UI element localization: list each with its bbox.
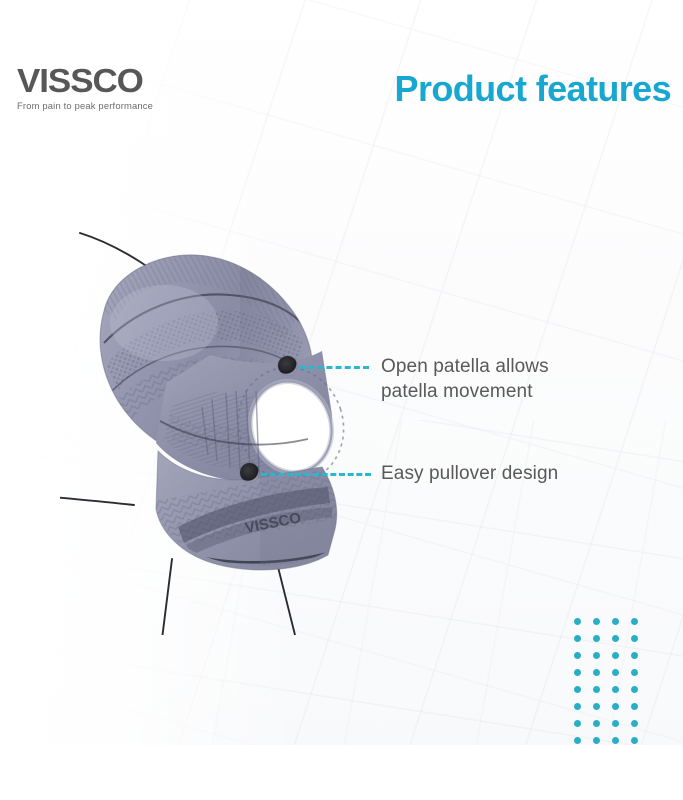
grid-dot — [631, 618, 638, 625]
grid-dot — [574, 618, 581, 625]
product-features-infographic: VISSCO From pain to peak performance Pro… — [0, 0, 683, 800]
grid-dot — [631, 720, 638, 727]
grid-dot — [593, 703, 600, 710]
callout-leader-line-easy-pullover — [261, 473, 371, 476]
grid-dot — [612, 737, 619, 744]
product-image-knee-brace: VISSCO — [60, 215, 390, 635]
callout-label-open-patella: Open patella allows patella movement — [381, 354, 611, 404]
grid-dot — [593, 669, 600, 676]
logo-tagline: From pain to peak performance — [17, 101, 153, 111]
grid-dot — [593, 635, 600, 642]
grid-dot — [574, 635, 581, 642]
page-title: Product features — [395, 68, 671, 110]
callout-label-easy-pullover: Easy pullover design — [381, 461, 621, 486]
grid-dot — [593, 720, 600, 727]
grid-dot — [574, 737, 581, 744]
grid-dot — [631, 652, 638, 659]
grid-dot — [612, 652, 619, 659]
grid-dot — [574, 669, 581, 676]
grid-dot — [612, 686, 619, 693]
grid-dot — [574, 652, 581, 659]
grid-dot — [593, 618, 600, 625]
grid-dot — [593, 686, 600, 693]
grid-dot — [612, 635, 619, 642]
callout-marker-easy-pullover — [240, 463, 259, 482]
callout-leader-line-open-patella — [299, 366, 369, 369]
grid-dot — [593, 652, 600, 659]
callout-marker-open-patella — [278, 356, 297, 375]
grid-dot — [593, 737, 600, 744]
decorative-dot-grid — [574, 618, 650, 754]
grid-dot — [612, 703, 619, 710]
grid-dot — [612, 720, 619, 727]
grid-dot — [631, 669, 638, 676]
grid-dot — [631, 686, 638, 693]
brand-logo: VISSCO From pain to peak performance — [17, 64, 150, 111]
grid-dot — [612, 618, 619, 625]
grid-dot — [631, 635, 638, 642]
grid-dot — [631, 703, 638, 710]
grid-dot — [574, 720, 581, 727]
grid-dot — [612, 669, 619, 676]
grid-dot — [574, 703, 581, 710]
logo-wordmark: VISSCO — [17, 64, 158, 98]
grid-dot — [631, 737, 638, 744]
grid-dot — [574, 686, 581, 693]
